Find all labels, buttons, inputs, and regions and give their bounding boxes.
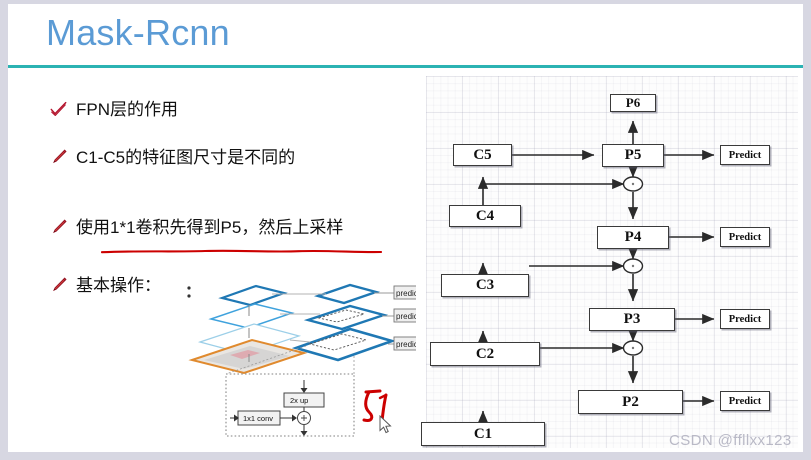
list-item-label: 使用1*1卷积先得到P5，然后上采样 <box>76 216 343 240</box>
red-underline-annotation <box>101 249 382 254</box>
list-item: 使用1*1卷积先得到P5，然后上采样 <box>50 216 343 240</box>
fpn-predict-label-1: predict <box>396 289 416 298</box>
node-p4[interactable]: P4 <box>597 226 669 249</box>
list-item-label: C1-C5的特征图尺寸是不同的 <box>76 146 295 170</box>
csdn-watermark: CSDN @ffllxx123 <box>669 432 792 449</box>
node-predict-p3[interactable]: Predict <box>720 309 770 329</box>
page-title: Mask-Rcnn <box>46 11 230 55</box>
node-p2[interactable]: P2 <box>578 390 683 414</box>
node-p3[interactable]: P3 <box>589 308 675 331</box>
slide-header: Mask-Rcnn <box>8 4 803 70</box>
node-p5[interactable]: P5 <box>602 144 664 167</box>
slide-canvas: Mask-Rcnn FPN层的作用 <box>8 4 803 452</box>
node-c2[interactable]: C2 <box>430 342 540 366</box>
fpn-inset-1x1-conv-label: 1x1 conv <box>243 414 273 423</box>
fpn-predict-label-2: predict <box>396 312 416 321</box>
list-item: FPN层的作用 <box>50 98 178 122</box>
list-item-label: FPN层的作用 <box>76 98 178 122</box>
title-divider <box>8 65 803 68</box>
fpn-inset-2x-up-label: 2x up <box>290 396 308 405</box>
list-item: C1-C5的特征图尺寸是不同的 <box>50 146 295 170</box>
fpn-predict-label-3: predict <box>396 340 416 349</box>
node-predict-p2[interactable]: Predict <box>720 391 770 411</box>
mouse-cursor-icon <box>379 415 392 434</box>
presentation-window: Mask-Rcnn FPN层的作用 <box>0 0 811 460</box>
pencil-icon <box>50 216 76 240</box>
check-icon <box>50 98 76 122</box>
node-c4[interactable]: C4 <box>449 205 521 227</box>
node-c1[interactable]: C1 <box>421 422 545 446</box>
list-item-label: 基本操作： <box>76 274 161 298</box>
pencil-icon <box>50 274 76 298</box>
pencil-icon <box>50 146 76 170</box>
node-predict-p5[interactable]: Predict <box>720 145 770 165</box>
node-p6[interactable]: P6 <box>610 94 656 112</box>
node-c5[interactable]: C5 <box>453 144 512 166</box>
node-predict-p4[interactable]: Predict <box>720 227 770 247</box>
node-c3[interactable]: C3 <box>441 274 529 297</box>
list-item: 基本操作： <box>50 274 161 298</box>
fpn-block-diagram: C5 C4 C3 C2 C1 P6 P5 P4 P3 P2 Predict Pr… <box>418 70 803 452</box>
